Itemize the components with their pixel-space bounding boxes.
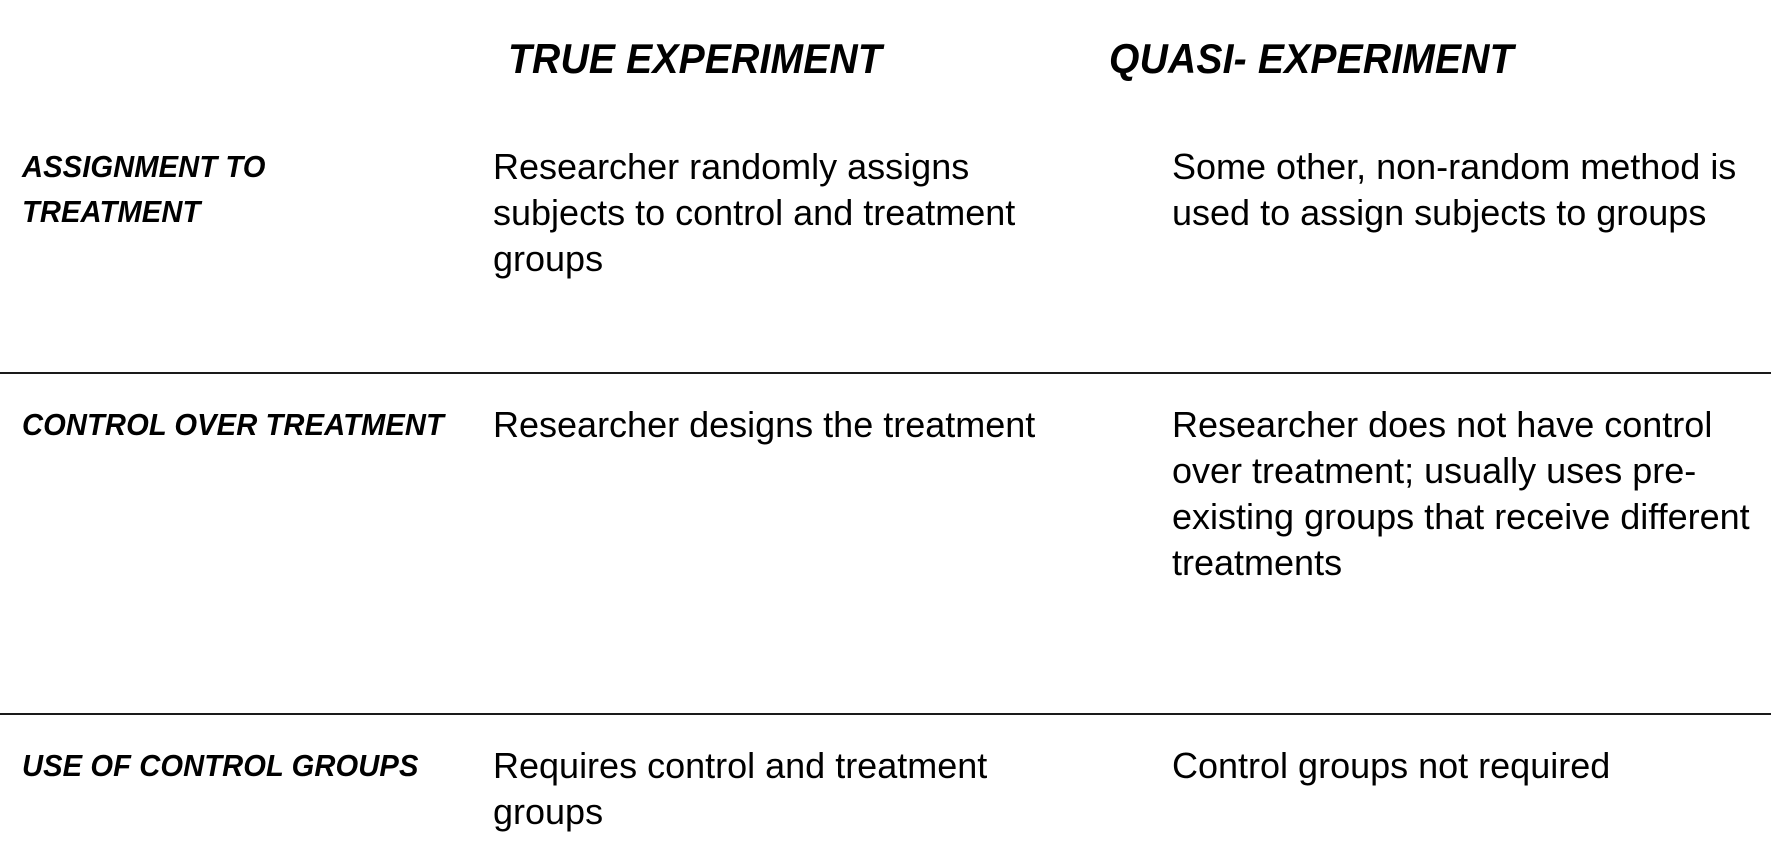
cell-quasi-experiment-assignment: Some other, non-random method is used to… (1172, 144, 1752, 236)
row-divider (0, 372, 1771, 374)
column-header-true-experiment: TRUE EXPERIMENT (508, 34, 882, 84)
cell-quasi-experiment-control-groups: Control groups not required (1172, 743, 1752, 789)
row-label-control-over-treatment: CONTROL OVER TREATMENT (22, 402, 445, 447)
cell-true-experiment-control-groups: Requires control and treatment groups (493, 743, 1093, 835)
comparison-table: TRUE EXPERIMENT QUASI- EXPERIMENT ASSIGN… (0, 0, 1789, 864)
row-label-assignment-to-treatment: ASSIGNMENT TO TREATMENT (22, 144, 445, 234)
table-row: ASSIGNMENT TO TREATMENT Researcher rando… (0, 130, 1789, 372)
table-header-row: TRUE EXPERIMENT QUASI- EXPERIMENT (0, 0, 1789, 118)
column-header-quasi-experiment: QUASI- EXPERIMENT (1109, 34, 1514, 84)
cell-true-experiment-control: Researcher designs the treatment (493, 402, 1093, 448)
cell-quasi-experiment-control: Researcher does not have control over tr… (1172, 402, 1752, 586)
row-divider (0, 713, 1771, 715)
table-row: USE OF CONTROL GROUPS Requires control a… (0, 713, 1789, 864)
table-row: CONTROL OVER TREATMENT Researcher design… (0, 372, 1789, 713)
row-label-use-of-control-groups: USE OF CONTROL GROUPS (22, 743, 445, 788)
cell-true-experiment-assignment: Researcher randomly assigns subjects to … (493, 144, 1093, 282)
